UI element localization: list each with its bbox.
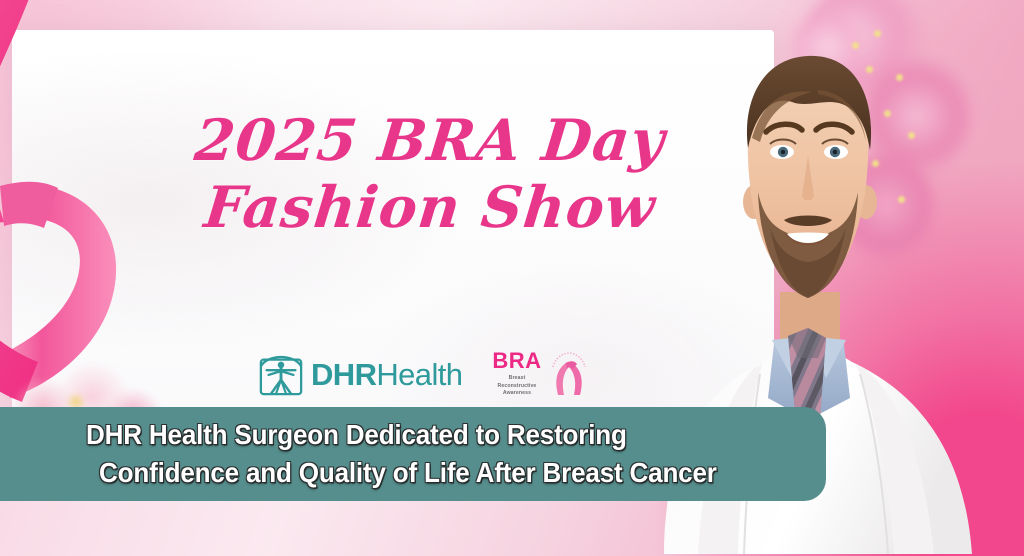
caption-bar: DHR Health Surgeon Dedicated to Restorin…: [0, 407, 826, 501]
banner-image: 2025 BRA Day Fashion Show DHRHealth BRA …: [0, 0, 1024, 556]
caption-line-2: Confidence and Quality of Life After Bre…: [86, 454, 743, 492]
bra-subtitle-line-1: Breast: [498, 375, 537, 383]
dhr-word-bold: DHR: [311, 357, 376, 392]
blossom-stamen-icon: [852, 42, 859, 49]
blossom-stamen-icon: [866, 66, 873, 73]
dhr-word-light: Health: [376, 357, 462, 392]
blossom-stamen-icon: [884, 110, 891, 117]
pink-double-ribbon-icon: [547, 351, 591, 397]
bra-day-logo: BRA Breast Reconstructive Awareness: [492, 350, 590, 398]
dhr-health-wordmark: DHRHealth: [311, 359, 462, 390]
bra-subtitle: Breast Reconstructive Awareness: [498, 375, 537, 398]
blossom-stamen-icon: [872, 160, 879, 167]
blossom-stamen-icon: [874, 30, 881, 37]
logo-row: DHRHealth BRA Breast Reconstructive Awar…: [258, 342, 618, 406]
blossom-stamen-icon: [898, 196, 905, 203]
bra-subtitle-line-2: Reconstructive: [498, 383, 537, 391]
bra-acronym: BRA: [492, 350, 541, 372]
caption-line-1: DHR Health Surgeon Dedicated to Restorin…: [86, 416, 743, 454]
dhr-health-logo: DHRHealth: [258, 351, 462, 397]
blossom-stamen-icon: [896, 74, 903, 81]
bra-text-block: BRA Breast Reconstructive Awareness: [492, 350, 541, 398]
bra-subtitle-line-3: Awareness: [498, 390, 537, 398]
blossom-stamen-icon: [908, 132, 915, 139]
vitruvian-man-icon: [258, 351, 304, 397]
